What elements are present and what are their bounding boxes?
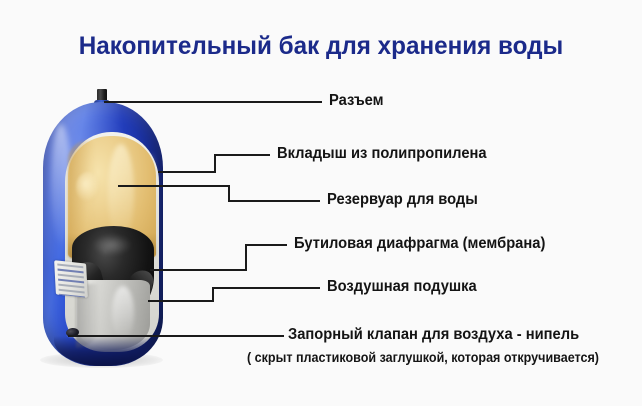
callout-sublabel-air-valve: ( скрыт пластиковой заглушкой, которая о… [247,350,599,365]
leader-line-cushion-seg2 [212,287,214,302]
tank-illustration [20,84,210,384]
leader-line-air-valve [68,335,284,337]
sticker-line [57,264,83,269]
callout-label-reservoir: Резервуар для воды [327,191,478,209]
sticker-line [58,284,84,289]
diagram-canvas: Накопительный бак для хранения воды [0,0,642,406]
leader-line-reservoir-seg3 [228,200,320,202]
diaphragm-highlight [92,234,132,256]
sticker-line [58,269,84,274]
leader-line-connector [104,101,322,103]
leader-line-membrane-seg2 [245,244,247,271]
sticker-line [59,289,85,294]
callout-label-connector: Разъем [329,92,384,110]
sticker-line [58,274,84,279]
leader-line-liner-seg3 [214,154,270,156]
callout-label-air-cushion: Воздушная подушка [327,278,477,296]
leader-line-cushion-seg1 [148,300,214,302]
leader-line-cushion-seg3 [212,287,320,289]
page-title: Накопительный бак для хранения воды [10,32,633,61]
liner-bump-highlight [76,172,100,202]
leader-line-liner-seg2 [214,154,216,173]
callout-label-membrane: Бутиловая диафрагма (мембрана) [294,235,545,253]
product-sticker [54,260,88,298]
leader-line-membrane-seg3 [245,244,287,246]
leader-line-membrane-seg1 [150,269,247,271]
callout-label-air-valve: Запорный клапан для воздуха - нипель [288,326,579,344]
leader-line-reservoir-seg1 [118,185,230,187]
leader-line-liner-seg1 [158,171,216,173]
sticker-line [58,279,84,284]
air-cushion-highlight [112,286,134,340]
callout-label-liner: Вкладыш из полипропилена [277,145,487,163]
